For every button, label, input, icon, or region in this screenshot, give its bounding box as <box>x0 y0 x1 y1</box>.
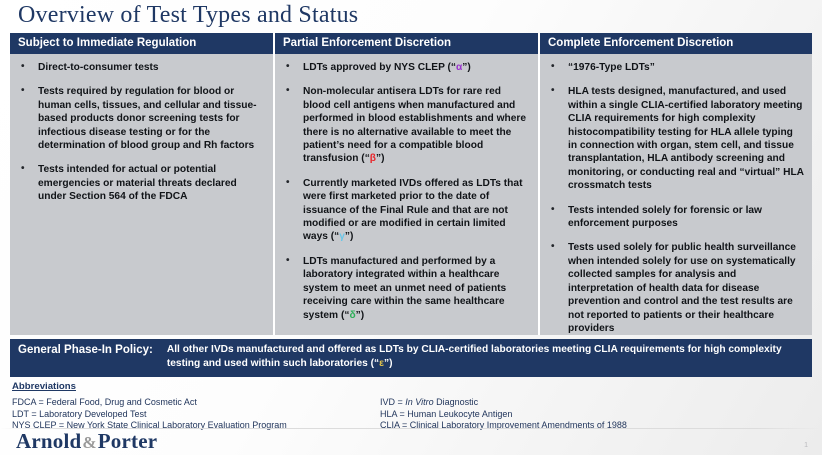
abbreviation-entry: FDCA = Federal Food, Drug and Cosmetic A… <box>12 397 380 409</box>
abbreviation-entry: IVD = In Vitro Diagnostic <box>380 397 760 409</box>
abbreviations-section: Abbreviations FDCA = Federal Food, Drug … <box>12 381 812 432</box>
bullet-item: LDTs approved by NYS CLEP (“α”) <box>281 61 530 74</box>
column-cell-partial-enforcement-discretion: LDTs approved by NYS CLEP (“α”)Non-molec… <box>275 54 540 335</box>
abbreviations-left-column: FDCA = Federal Food, Drug and Cosmetic A… <box>12 397 380 432</box>
bullet-text: LDTs approved by NYS CLEP (“ <box>303 62 456 73</box>
test-type-matrix: Subject to Immediate Regulation Partial … <box>10 33 812 335</box>
bullet-item: “1976-Type LDTs” <box>546 61 804 74</box>
matrix-body-row: Direct-to-consumer testsTests required b… <box>10 54 812 335</box>
bullet-text-tail: ”) <box>356 310 365 321</box>
page-number: 1 <box>804 442 808 449</box>
general-phase-in-policy-bar: General Phase-In Policy: All other IVDs … <box>10 339 812 377</box>
bullet-text: Non-molecular antisera LDTs for rare red… <box>303 86 526 164</box>
phase-in-text-tail: ”) <box>384 358 393 369</box>
bullet-item: LDTs manufactured and performed by a lab… <box>281 255 530 322</box>
bullet-list-complete-enforcement-discretion: “1976-Type LDTs”HLA tests designed, manu… <box>546 61 804 335</box>
abbreviation-entry: HLA = Human Leukocyte Antigen <box>380 409 760 421</box>
bullet-item: Tests intended solely for forensic or la… <box>546 204 804 231</box>
logo-first-word: Arnold <box>16 429 81 453</box>
page-title: Overview of Test Types and Status <box>18 2 358 29</box>
phase-in-text-head: All other IVDs manufactured and offered … <box>167 344 782 369</box>
bullet-item: Tests intended for actual or potential e… <box>16 163 265 203</box>
bullet-item: Tests required by regulation for blood o… <box>16 85 265 152</box>
column-header-immediate-regulation: Subject to Immediate Regulation <box>10 33 275 54</box>
abbreviations-heading: Abbreviations <box>12 381 812 392</box>
column-cell-complete-enforcement-discretion: “1976-Type LDTs”HLA tests designed, manu… <box>540 54 812 335</box>
slide-canvas: Overview of Test Types and Status Subjec… <box>0 0 822 455</box>
bullet-item: Tests used solely for public health surv… <box>546 241 804 335</box>
bullet-text-tail: ”) <box>345 231 354 242</box>
phase-in-text: All other IVDs manufactured and offered … <box>159 343 806 371</box>
abbreviations-columns: FDCA = Federal Food, Drug and Cosmetic A… <box>12 397 812 432</box>
matrix-header-row: Subject to Immediate Regulation Partial … <box>10 33 812 54</box>
bullet-item: Currently marketed IVDs offered as LDTs … <box>281 177 530 244</box>
column-cell-immediate-regulation: Direct-to-consumer testsTests required b… <box>10 54 275 335</box>
bullet-item: Direct-to-consumer tests <box>16 61 265 74</box>
bullet-text: Currently marketed IVDs offered as LDTs … <box>303 178 522 243</box>
bullet-item: HLA tests designed, manufactured, and us… <box>546 85 804 192</box>
abbreviations-right-column: IVD = In Vitro DiagnosticHLA = Human Leu… <box>380 397 760 432</box>
logo-ampersand: & <box>81 433 97 452</box>
bullet-text-tail: ”) <box>376 153 385 164</box>
bullet-text: LDTs manufactured and performed by a lab… <box>303 256 506 321</box>
bullet-item: Non-molecular antisera LDTs for rare red… <box>281 85 530 165</box>
arnold-porter-logo: Arnold&Porter <box>16 429 157 454</box>
abbreviation-entry: LDT = Laboratory Developed Test <box>12 409 380 421</box>
bullet-list-partial-enforcement-discretion: LDTs approved by NYS CLEP (“α”)Non-molec… <box>281 61 530 322</box>
bullet-list-immediate-regulation: Direct-to-consumer testsTests required b… <box>16 61 265 204</box>
phase-in-label: General Phase-In Policy: <box>18 343 159 358</box>
bullet-text-tail: ”) <box>462 62 471 73</box>
logo-last-word: Porter <box>98 429 157 453</box>
abbreviation-italic-term: In Vitro <box>405 397 433 407</box>
abbreviation-entry: CLIA = Clinical Laboratory Improvement A… <box>380 420 760 432</box>
column-header-partial-enforcement-discretion: Partial Enforcement Discretion <box>275 33 540 54</box>
column-header-complete-enforcement-discretion: Complete Enforcement Discretion <box>540 33 812 54</box>
